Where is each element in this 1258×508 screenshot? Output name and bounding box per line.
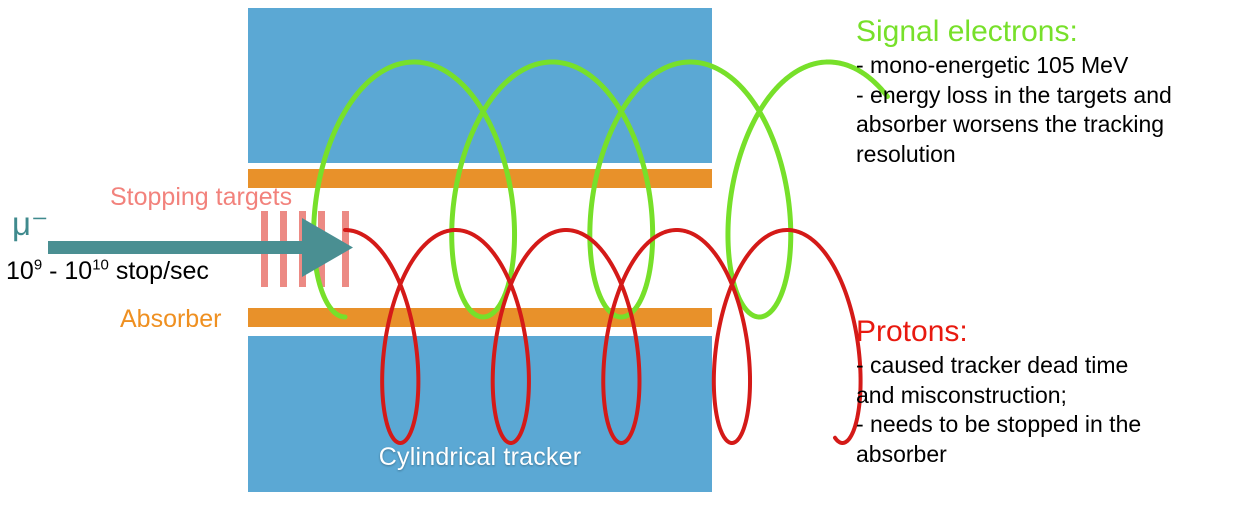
stopping-target-foil (280, 211, 287, 287)
tracker-block-upper (248, 8, 712, 163)
signal-electrons-callout: Signal electrons: - mono-energetic 105 M… (856, 16, 1256, 169)
absorber-bar-upper (248, 169, 712, 188)
stopping-targets-label: Stopping targets (110, 183, 292, 212)
stopping-target-foil (261, 211, 268, 287)
signal-electrons-line-1: - mono-energetic 105 MeV (856, 51, 1256, 80)
signal-electrons-title: Signal electrons: (856, 16, 1256, 48)
beam-rate-separator: - 10 (42, 257, 92, 285)
signal-electrons-line-4: resolution (856, 140, 1256, 169)
absorber-label: Absorber (120, 305, 221, 334)
protons-line-4: absorber (856, 440, 1256, 469)
signal-electrons-line-2: - energy loss in the targets and (856, 81, 1256, 110)
protons-line-3: - needs to be stopped in the (856, 410, 1256, 439)
diagram-canvas: Cylindrical tracker Stopping targets Abs… (0, 0, 1258, 508)
signal-electrons-body: - mono-energetic 105 MeV - energy loss i… (856, 51, 1256, 169)
tracker-block-lower (248, 336, 712, 492)
protons-line-2: and misconstruction; (856, 381, 1256, 410)
stopping-target-foil (299, 211, 306, 287)
protons-body: - caused tracker dead time and misconstr… (856, 351, 1256, 469)
muon-symbol-label: μ⁻ (12, 204, 48, 243)
absorber-bar-lower (248, 308, 712, 327)
beam-rate-exponent2: 10 (92, 257, 109, 274)
beam-rate-base1: 10 (6, 257, 34, 285)
signal-electrons-line-3: absorber worsens the tracking (856, 110, 1256, 139)
protons-title: Protons: (856, 316, 1256, 348)
beam-rate-units: stop/sec (109, 257, 209, 285)
protons-line-1: - caused tracker dead time (856, 351, 1256, 380)
stopping-target-foil (318, 211, 325, 287)
stopping-target-foil (342, 211, 349, 287)
beam-rate-exponent1: 9 (34, 257, 42, 274)
beam-rate-label: 109 - 1010 stop/sec (6, 257, 209, 286)
protons-callout: Protons: - caused tracker dead time and … (856, 316, 1256, 469)
